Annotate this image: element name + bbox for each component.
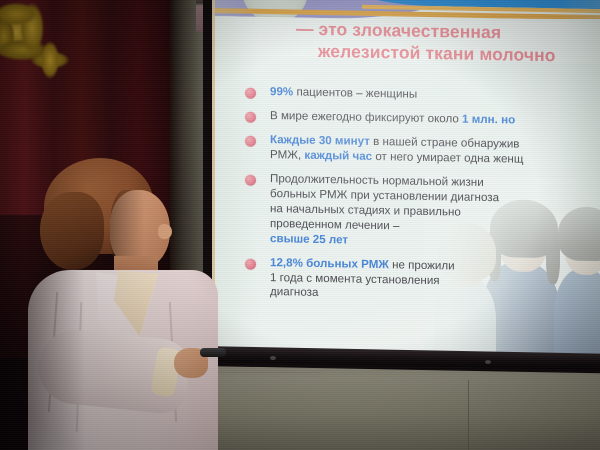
bullet-dot-icon xyxy=(245,258,256,269)
bullet-dot-icon xyxy=(245,136,256,147)
presenter xyxy=(22,152,237,450)
bullet-text: В мире ежегодно фиксируют около xyxy=(270,109,462,126)
slide-bullet-line: 99% пациентов – женщины xyxy=(270,85,600,106)
slide-bullet: Каждые 30 минут в нашей стране обнаружив… xyxy=(242,132,600,169)
highlighted-text: свыше 25 лет xyxy=(270,232,348,246)
slide-title-line-2: железистой ткани молочно xyxy=(318,40,600,70)
bullet-dot-icon xyxy=(245,174,256,185)
screen-bolt-right xyxy=(485,360,491,364)
bullet-text: 1 года с момента установления xyxy=(270,271,440,287)
bullet-text: пациентов – женщины xyxy=(293,85,417,100)
slide-title: — это злокачественная железистой ткани м… xyxy=(296,18,600,70)
presenter-hair-back xyxy=(40,192,104,270)
slide-bullet-list: 99% пациентов – женщиныВ мире ежегодно ф… xyxy=(242,85,600,316)
slide-bullet: 99% пациентов – женщины xyxy=(242,85,600,107)
bullet-text: на начальных стадиях и правильно xyxy=(270,202,461,218)
presenter-shading xyxy=(28,270,218,450)
yellow-flower-decoration-petals xyxy=(24,30,76,92)
slide-title-line-1: — это злокачественная xyxy=(296,19,501,43)
slide-bullet: В мире ежегодно фиксируют около 1 млн. н… xyxy=(242,109,600,131)
highlighted-text: 99% xyxy=(270,85,293,98)
presenter-nose xyxy=(158,224,172,239)
bullet-text: диагноза xyxy=(270,286,318,300)
highlighted-text: 12,8% больных РМЖ xyxy=(270,256,389,271)
bullet-text: в нашей стране обнаружив xyxy=(370,135,520,151)
bullet-dot-icon xyxy=(245,112,256,123)
highlighted-text: 1 млн. но xyxy=(462,113,515,127)
bullet-text: проведенном лечении – xyxy=(270,217,399,232)
highlighted-text: каждый час xyxy=(304,149,372,163)
slide-bullet-line: В мире ежегодно фиксируют около 1 млн. н… xyxy=(270,109,600,130)
slide-bullet: Продолжительность нормальной жизнибольны… xyxy=(242,171,600,253)
screen-bolt-left xyxy=(270,356,276,360)
bullet-text: РМЖ, xyxy=(270,148,304,162)
slide-bullet: 12,8% больных РМЖ не прожили1 года с мом… xyxy=(242,255,600,307)
lecture-photo-scene: — это злокачественная железистой ткани м… xyxy=(0,0,600,450)
highlighted-text: Каждые 30 минут xyxy=(270,133,370,148)
bullet-text: Продолжительность нормальной жизни xyxy=(270,172,484,189)
bullet-dot-icon xyxy=(245,88,256,99)
bullet-text: от него умирает одна женщ xyxy=(372,150,523,166)
bullet-text: не прожили xyxy=(389,258,455,272)
projected-slide: — это злокачественная железистой ткани м… xyxy=(212,0,600,355)
floor-seam-vertical xyxy=(468,380,469,450)
